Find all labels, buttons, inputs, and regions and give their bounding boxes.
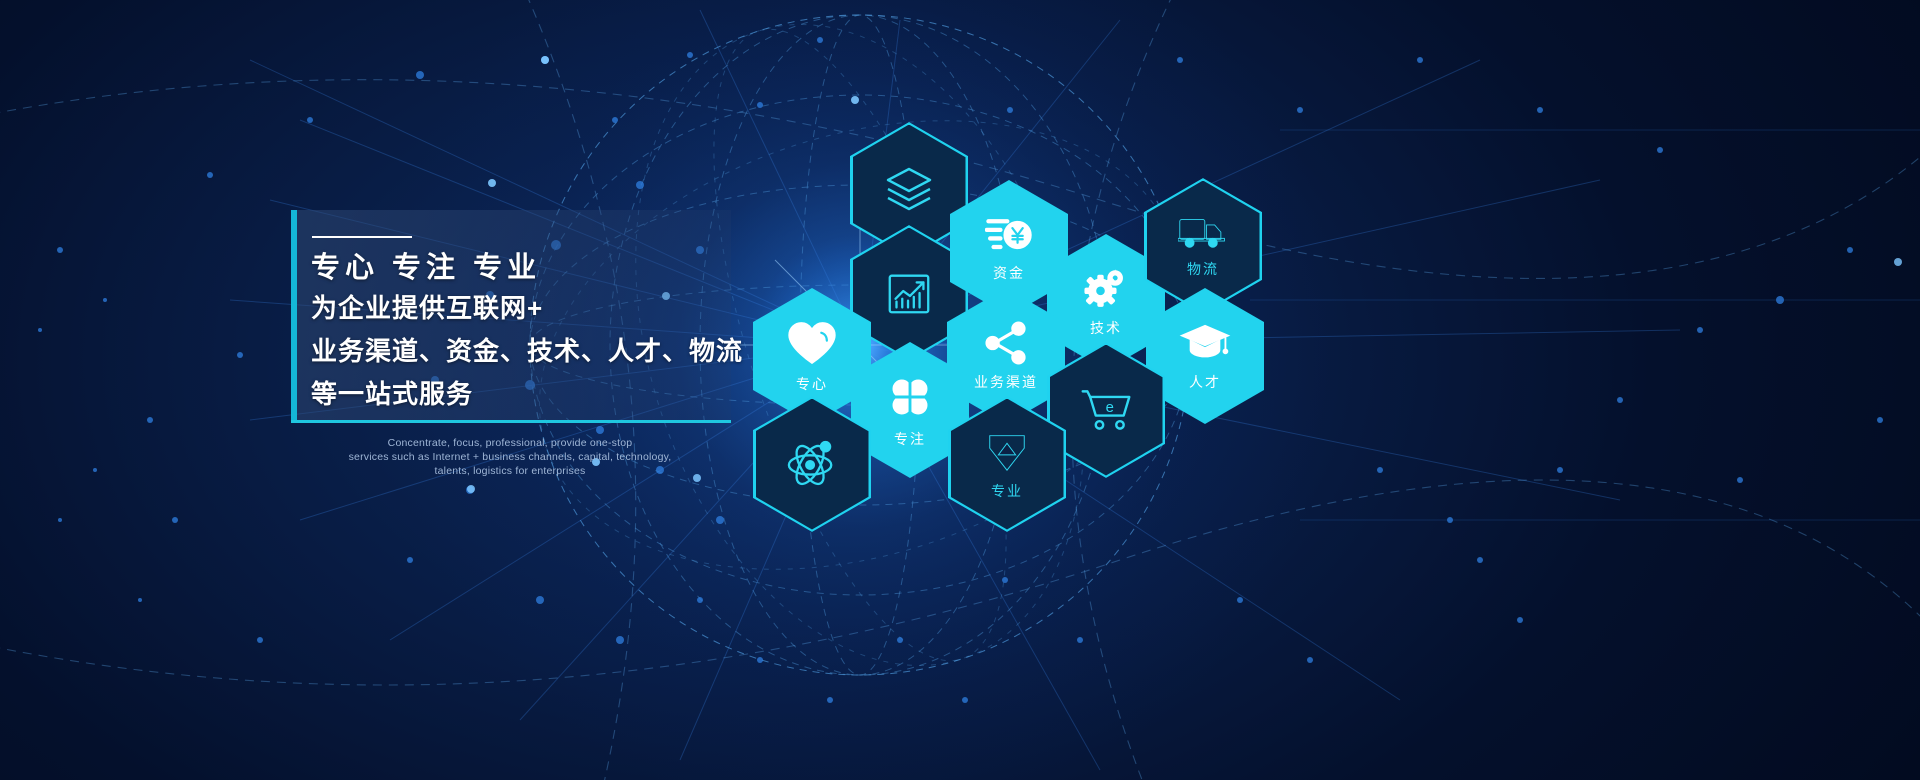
chart-growth-icon: [884, 268, 934, 318]
hero-banner: 专心 专注 专业 为企业提供互联网+ 业务渠道、资金、技术、人才、物流 等一站式…: [0, 0, 1920, 780]
hex-label-channels: 业务渠道: [974, 372, 1038, 392]
layers-icon: [883, 164, 935, 216]
headline-line-3: 业务渠道、资金、技术、人才、物流: [311, 331, 743, 368]
hex-label-focusheart: 专心: [796, 374, 828, 394]
hex-content-capital: 资金: [985, 214, 1033, 283]
hex-content-layers: [883, 164, 935, 216]
svg-text:e: e: [1106, 400, 1114, 416]
hex-content-chart: [884, 268, 934, 318]
hex-label-focus: 专注: [894, 429, 926, 449]
hex-label-capital: 资金: [993, 263, 1025, 283]
share-nodes-icon: [983, 321, 1029, 365]
hex-content-profession: 专业: [984, 428, 1030, 501]
headline-accent-bar: [291, 210, 297, 422]
subtitle-line-2: services such as Internet + business cha…: [330, 450, 690, 464]
headline-underline: [291, 420, 731, 423]
clover-icon: [885, 372, 935, 422]
gears-icon: [1082, 267, 1130, 311]
heart-icon: [786, 319, 838, 367]
hex-label-talent: 人才: [1189, 372, 1221, 392]
hex-content-atom: [784, 438, 840, 490]
hex-label-profession: 专业: [991, 481, 1023, 501]
graduation-cap-icon: [1179, 321, 1231, 365]
hex-content-ecommerce: e: [1079, 387, 1133, 433]
subtitle-line-1: Concentrate, focus, professional, provid…: [330, 436, 690, 450]
hex-content-talent: 人才: [1179, 321, 1231, 392]
truck-icon: [1178, 214, 1228, 252]
subtitle-line-3: talents, logistics for enterprises: [330, 464, 690, 478]
shopping-cart-e-icon: e: [1079, 387, 1133, 433]
hex-content-logistics: 物流: [1178, 214, 1228, 279]
headline-line-1: 专心 专注 专业: [311, 244, 541, 286]
hex-label-logistics: 物流: [1187, 259, 1219, 279]
hex-label-tech: 技术: [1090, 318, 1122, 338]
yen-coin-icon: [985, 214, 1033, 256]
hex-content-channels: 业务渠道: [974, 321, 1038, 392]
hex-content-tech: 技术: [1082, 267, 1130, 338]
hex-content-focus: 专注: [885, 372, 935, 449]
headline-rule: [312, 236, 412, 238]
atom-icon: [784, 438, 840, 490]
headline-line-4: 等一站式服务: [311, 374, 473, 411]
diamond-icon: [984, 428, 1030, 474]
subtitle-block: Concentrate, focus, professional, provid…: [330, 436, 690, 478]
headline-line-2: 为企业提供互联网+: [311, 288, 543, 325]
hexagon-cluster: 资金 技术 物流 业务渠道 人才 专心 专注: [0, 0, 1920, 780]
hex-content-focusheart: 专心: [786, 319, 838, 394]
